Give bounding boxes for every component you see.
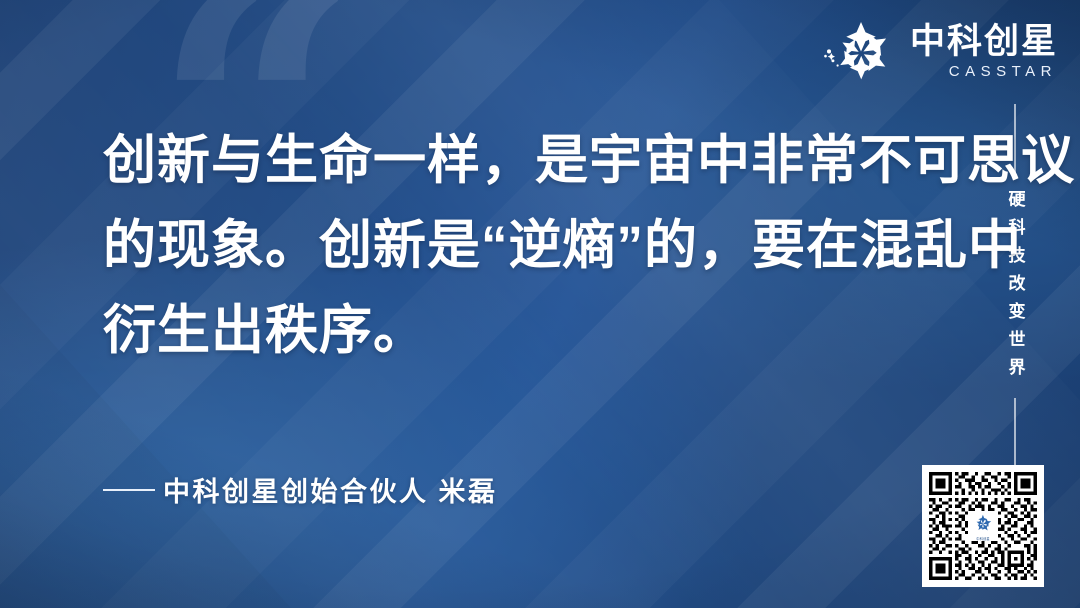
- slogan-text: 硬科技改变世界: [1003, 178, 1028, 398]
- quote-attribution: 中科创星创始合伙人 米磊: [103, 470, 498, 509]
- brand-name-cn: 中科创星: [910, 24, 1058, 61]
- brand-name-en: CASSTAR: [949, 64, 1057, 81]
- quote-poster: “: [0, 0, 1080, 608]
- qr-code[interactable]: 中科创星: [922, 465, 1044, 587]
- sparkle-ring-icon: [822, 14, 900, 92]
- qr-center-logo-text: 中科创星: [976, 538, 990, 541]
- sparkle-ring-icon: [968, 511, 998, 537]
- attribution-dash-icon: [103, 489, 155, 491]
- quote-line: 的现象。创新是“逆熵”的，要在混乱中: [103, 203, 983, 288]
- slogan-rule-bottom: [1014, 398, 1016, 468]
- brand-wordmark: 中科创星 CASSTAR: [910, 24, 1058, 82]
- quote-line: 衍生出秩序。: [103, 288, 983, 373]
- qr-center-logo: 中科创星: [968, 511, 998, 541]
- brand-logo: 中科创星 CASSTAR: [822, 14, 1058, 92]
- attribution-text: 中科创星创始合伙人 米磊: [163, 470, 498, 509]
- qr-code-icon[interactable]: 中科创星: [929, 472, 1037, 580]
- quote-line: 创新与生命一样，是宇宙中非常不可思议: [103, 118, 983, 203]
- quote-text-block: 创新与生命一样，是宇宙中非常不可思议 的现象。创新是“逆熵”的，要在混乱中 衍生…: [103, 118, 983, 373]
